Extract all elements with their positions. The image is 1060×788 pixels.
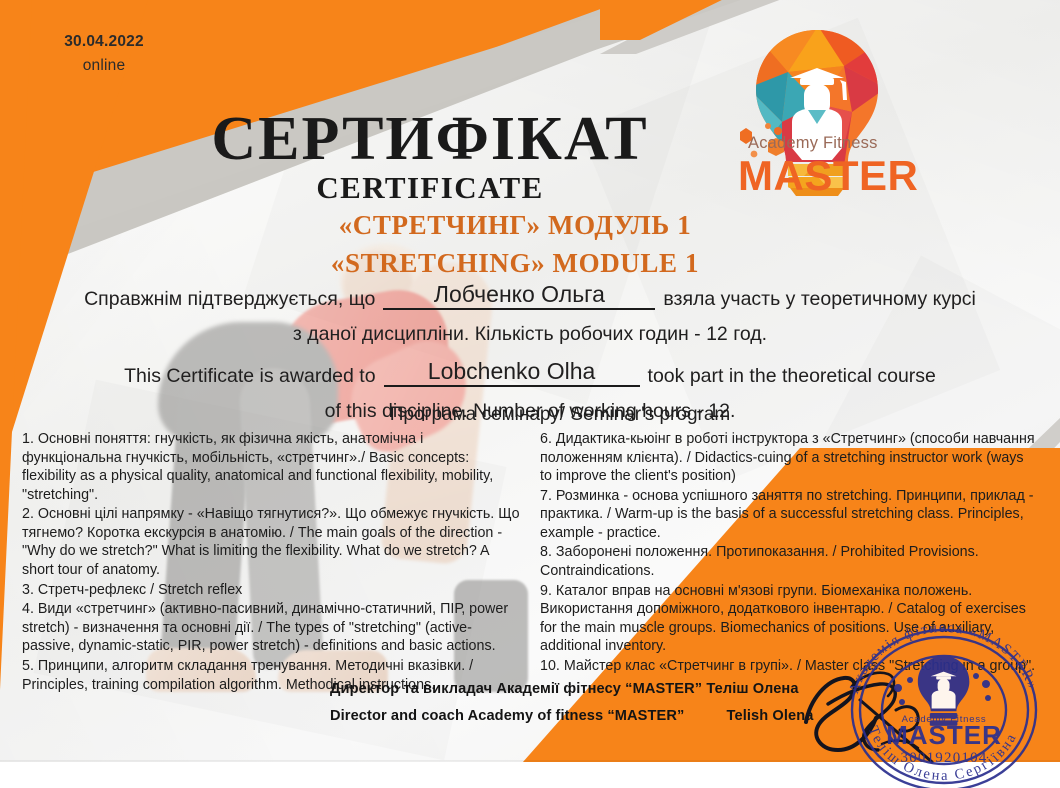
recipient-name-en: Lobchenko Olha xyxy=(384,359,640,387)
director-title-en: Director and coach Academy of fitness “M… xyxy=(330,708,684,724)
page-title-ua: СЕРТИФІКАТ xyxy=(0,104,1060,175)
program-item: 6. Дидактика-кьюінг в роботі інструктора… xyxy=(540,430,1038,486)
issue-date: 30.04.2022 xyxy=(24,30,184,54)
program-item: 7. Розминка - основа успішного заняття п… xyxy=(540,487,1038,543)
course-title-ua: «СТРЕТЧИНГ» МОДУЛЬ 1 xyxy=(0,210,1060,241)
award-en-suffix: took part in the theoretical course xyxy=(648,366,936,387)
stamp-inner-brand: MASTER xyxy=(886,720,1002,750)
issue-date-block: 30.04.2022 online xyxy=(24,30,184,78)
official-stamp: Академія фітнеса «MASTER» Теліш Олена Се… xyxy=(838,618,1050,786)
award-ua-prefix: Справжнім підтверджується, що xyxy=(84,289,375,310)
award-ua-hours: з даної дисципліни. Кількість робочих го… xyxy=(293,324,767,345)
program-item: 3. Стретч-рефлекс / Stretch reflex xyxy=(22,581,520,600)
director-line-ua: Директор та викладач Академії фітнесу “M… xyxy=(330,682,850,697)
program-item: 4. Види «стретчинг» (активно-пасивний, д… xyxy=(22,600,520,656)
delivery-mode: online xyxy=(24,54,184,78)
award-en-prefix: This Certificate is awarded to xyxy=(124,366,375,387)
recipient-name-ua: Лобченко Ольга xyxy=(383,282,655,310)
director-name-en: Telish Olena xyxy=(727,708,814,724)
program-item: 8. Заборонені положення. Протипоказання.… xyxy=(540,543,1038,580)
director-signature-block: Директор та викладач Академії фітнесу “M… xyxy=(330,682,850,723)
certificate-canvas: 30.04.2022 online xyxy=(0,0,1060,788)
program-heading: Програма семінару/ Seminar's program xyxy=(0,404,1060,426)
program-item: 2. Основні цілі напрямку - «Навіщо тягну… xyxy=(22,505,520,579)
course-title-en: «STRETCHING» MODULE 1 xyxy=(0,248,1060,279)
program-column-left: 1. Основні поняття: гнучкість, як фізичн… xyxy=(22,430,520,695)
award-ua-suffix: взяла участь у теоретичному курсі xyxy=(663,289,976,310)
program-item: 1. Основні поняття: гнучкість, як фізичн… xyxy=(22,430,520,504)
page-title-en: CERTIFICATE xyxy=(0,170,1060,206)
stamp-number: 3001920104 xyxy=(901,750,988,766)
director-line-en: Director and coach Academy of fitness “M… xyxy=(330,709,850,724)
